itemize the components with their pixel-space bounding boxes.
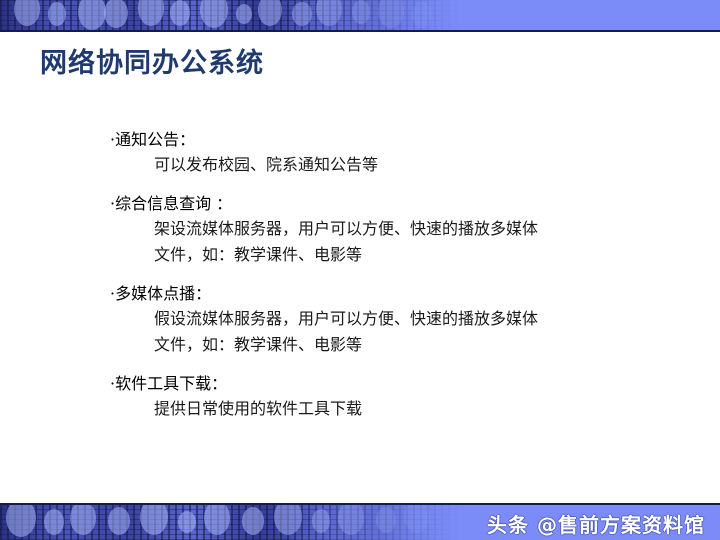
bubble-decoration [200,0,228,28]
bubble-decoration [108,507,130,535]
content-body: ·通知公告： 可以发布校园、院系通知公告等 ·综合信息查询 ： 架设流媒体服务器… [110,128,650,422]
content-block: ·通知公告： 可以发布校园、院系通知公告等 [110,128,650,178]
bottom-band-bubbles [0,505,460,540]
top-band-bubbles [0,0,460,31]
bubble-decoration [70,505,96,535]
block-line: 架设流媒体服务器，用户可以方便、快速的播放多媒体 [154,216,650,242]
bubble-decoration [78,0,106,30]
bubble-decoration [274,505,302,535]
block-line: 假设流媒体服务器，用户可以方便、快速的播放多媒体 [154,306,650,332]
bubble-decoration [412,2,432,28]
bubble-decoration [378,0,404,28]
top-decorative-band [0,0,720,31]
bubble-decoration [338,505,364,535]
content-block: ·软件工具下载： 提供日常使用的软件工具下载 [110,372,650,422]
block-heading: ·综合信息查询 ： [110,192,650,216]
bubble-decoration [258,0,282,26]
block-heading: ·通知公告： [110,128,650,152]
bubble-decoration [312,509,330,533]
page-title: 网络协同办公系统 [40,41,264,80]
block-line: 提供日常使用的软件工具下载 [154,396,650,422]
block-line: 可以发布校园、院系通知公告等 [154,152,650,178]
bubble-decoration [242,507,264,535]
content-block: ·综合信息查询 ： 架设流媒体服务器，用户可以方便、快速的播放多媒体 文件，如：… [110,192,650,268]
bubble-decoration [236,4,252,24]
bubble-decoration [138,0,164,26]
block-heading: ·软件工具下载： [110,372,650,396]
bubble-decoration [6,505,36,537]
block-heading: ·多媒体点播： [110,282,650,306]
bubble-decoration [204,505,230,535]
bubble-decoration [48,2,66,26]
bubble-decoration [352,0,370,24]
bubble-decoration [104,0,128,28]
bubble-decoration [140,505,168,535]
bubble-decoration [14,0,40,26]
slide: 网络协同办公系统 ·通知公告： 可以发布校园、院系通知公告等 ·综合信息查询 ：… [0,0,720,540]
bubble-decoration [170,0,190,26]
watermark-text: 头条 @售前方案资料馆 [487,509,705,538]
bubble-decoration [404,505,430,533]
block-line: 文件，如：教学课件、电影等 [154,242,650,268]
bubble-decoration [316,0,342,26]
bubble-decoration [178,511,196,533]
bubble-decoration [376,507,396,533]
top-band-rule [0,30,720,32]
bubble-decoration [292,2,312,26]
block-line: 文件，如：教学课件、电影等 [154,332,650,358]
content-block: ·多媒体点播： 假设流媒体服务器，用户可以方便、快速的播放多媒体 文件，如：教学… [110,282,650,358]
bubble-decoration [44,509,64,535]
